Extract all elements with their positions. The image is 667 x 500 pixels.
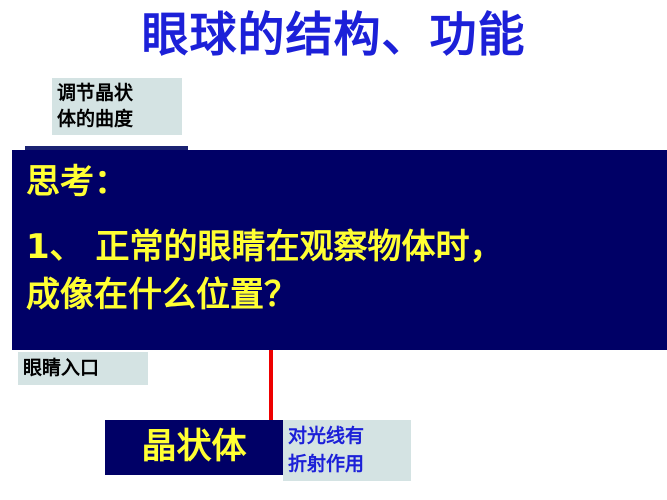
red-leader-line — [269, 350, 273, 420]
question-panel: 思考： 1、 正常的眼睛在观察物体时， 成像在什么位置？ — [12, 150, 667, 350]
presentation-slide: 眼球的结构、功能 调节晶状 体的曲度 思考： 1、 正常的眼睛在观察物体时， 成… — [0, 0, 667, 500]
page-title: 眼球的结构、功能 — [0, 8, 667, 64]
question-heading: 思考： — [26, 160, 667, 204]
callout-light-refraction: 对光线有 折射作用 — [283, 420, 411, 481]
lens-label-box: 晶状体 — [105, 420, 283, 475]
question-line-1: 1、 正常的眼睛在观察物体时， — [26, 224, 667, 270]
callout-lens-curvature: 调节晶状 体的曲度 — [52, 78, 182, 135]
callout-eye-entrance: 眼睛入口 — [18, 352, 148, 385]
question-line-2: 成像在什么位置？ — [26, 272, 667, 318]
